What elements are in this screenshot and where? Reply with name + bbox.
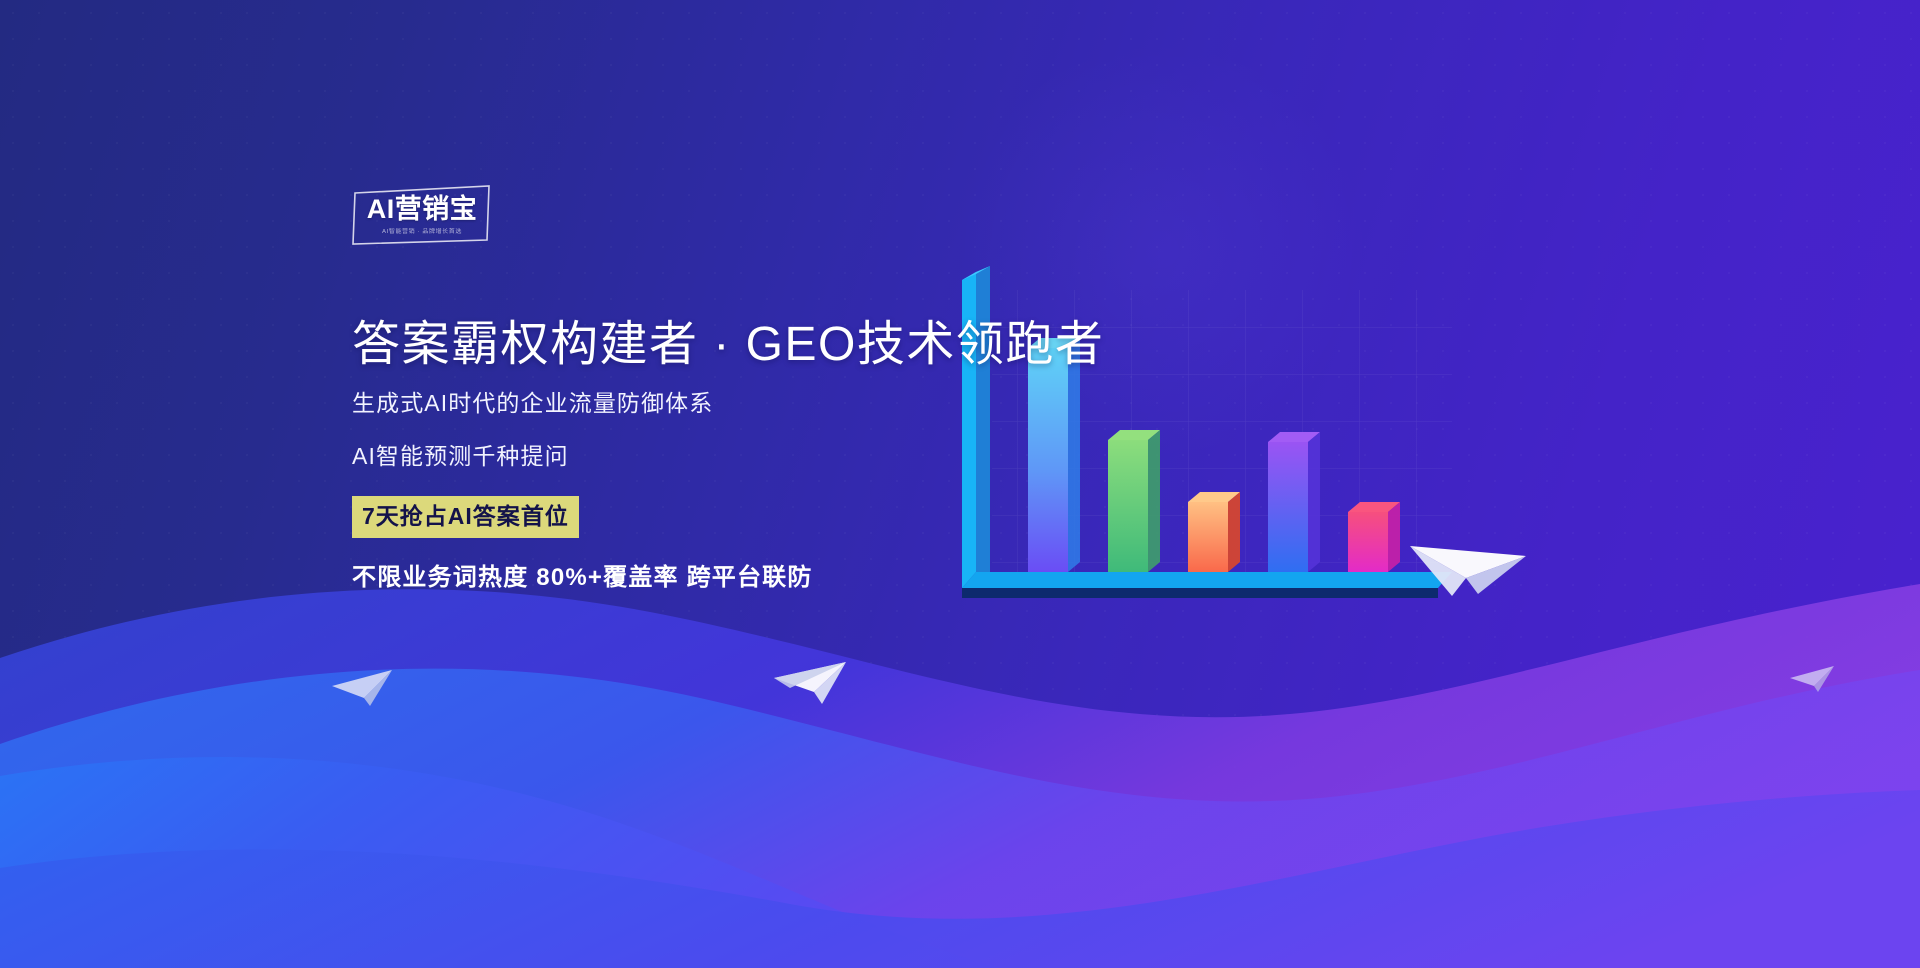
glow-circle-right bbox=[1480, 830, 1820, 968]
logo-wordmark: AI营销宝 bbox=[367, 196, 478, 223]
hero-copy: 答案霸权构建者 · GEO技术领跑者 生成式AI时代的企业流量防御体系 AI智能… bbox=[352, 318, 1072, 590]
paper-plane-icon-mid bbox=[770, 648, 848, 706]
hero-features: 不限业务词热度 80%+覆盖率 跨平台联防 bbox=[352, 566, 1072, 590]
page-title: 答案霸权构建者 · GEO技术领跑者 bbox=[352, 318, 1072, 372]
chart-bar-4 bbox=[1268, 432, 1320, 572]
hero-subline-1: 生成式AI时代的企业流量防御体系 bbox=[352, 392, 1072, 415]
paper-plane-icon-small bbox=[330, 660, 394, 708]
paper-plane-icon-tiny bbox=[1788, 658, 1836, 694]
brand-logo[interactable]: AI营销宝 AI智能营销 · 品牌增长首选 bbox=[352, 184, 492, 246]
hero-highlight-row: 7天抢占AI答案首位 bbox=[352, 496, 1072, 538]
glow-circle-left bbox=[60, 700, 360, 968]
logo-tagline: AI智能营销 · 品牌增长首选 bbox=[382, 229, 462, 235]
hero-subline-2: AI智能预测千种提问 bbox=[352, 445, 1072, 468]
hero-banner: AI营销宝 AI智能营销 · 品牌增长首选 答案霸权构建者 · GEO技术领跑者… bbox=[0, 0, 1920, 968]
chart-bar-3 bbox=[1188, 492, 1240, 572]
highlight-badge: 7天抢占AI答案首位 bbox=[352, 496, 579, 538]
chart-bar-5 bbox=[1348, 502, 1400, 572]
chart-bar-2 bbox=[1108, 430, 1160, 572]
